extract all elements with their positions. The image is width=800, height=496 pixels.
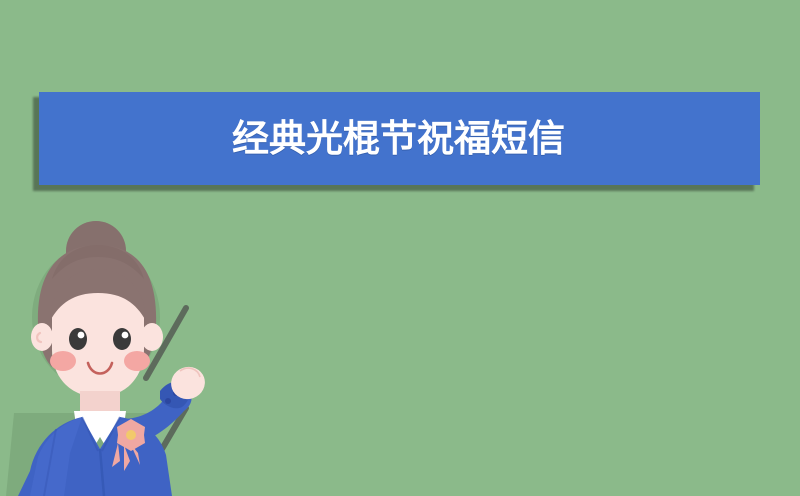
ear-right-icon: [141, 323, 163, 351]
poster-canvas: 经典光棍节祝福短信: [0, 0, 800, 496]
cheek-right: [124, 351, 150, 371]
teacher-illustration: [0, 205, 260, 496]
cheek-left: [50, 351, 76, 371]
page-title: 经典光棍节祝福短信: [232, 114, 565, 164]
eye-left-icon: [69, 328, 87, 350]
cuff-button-1: [165, 398, 171, 404]
face: [50, 269, 146, 397]
eye-right-icon: [113, 328, 131, 350]
ear-left-icon: [31, 323, 53, 351]
